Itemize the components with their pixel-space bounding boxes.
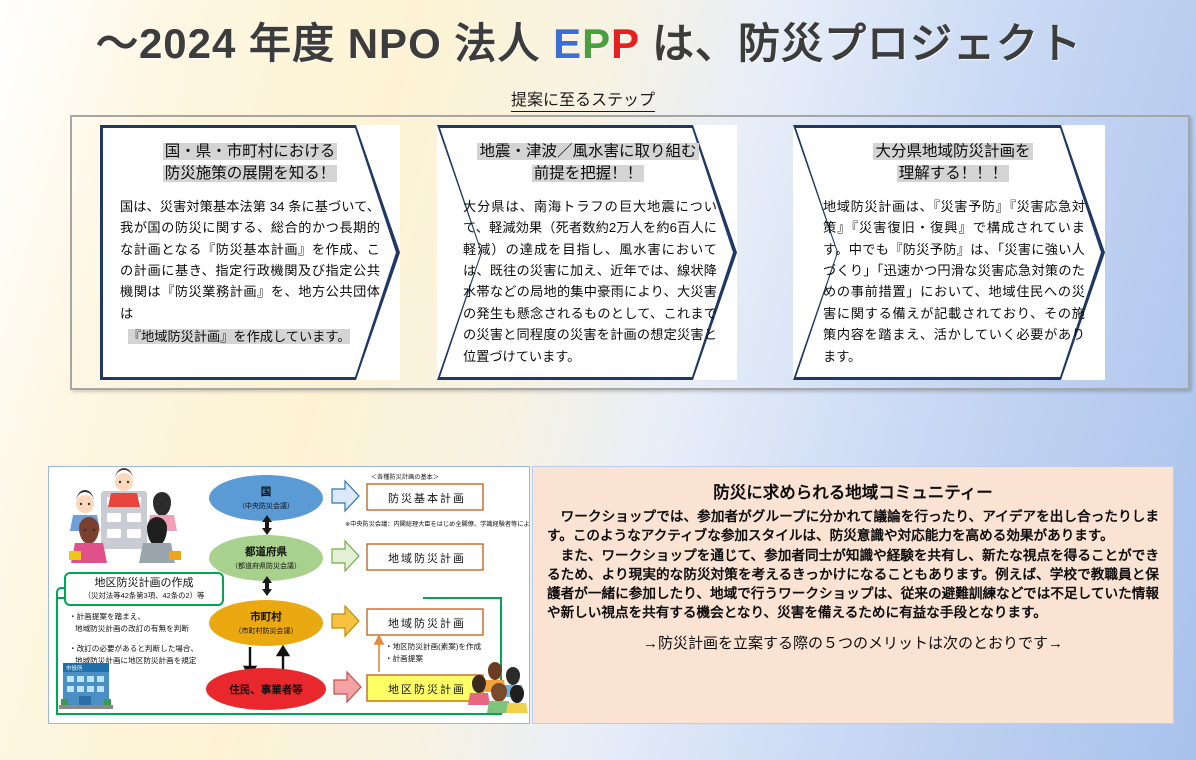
plan-label-3: 地域防災計画	[388, 616, 466, 630]
panel-heading: 防災に求められる地域コミュニティー	[547, 479, 1159, 503]
diagram-note-basic: ＜各種防災計画の基本＞	[371, 473, 439, 481]
crowd-illustration	[468, 662, 528, 713]
arrow-todofuken-to-plan	[332, 541, 359, 571]
title-letter-e: E	[553, 20, 582, 67]
step-2-heading-line1: 地震・津波／風水害に取り組む	[477, 143, 698, 160]
step-chevron-1: 国・県・市町村における 防災施策の展開を知る！ 国は、災害対策基本法第 34 条…	[100, 125, 400, 380]
bullet-right-2: ・計画提案	[385, 653, 423, 663]
diagram-node-jumin: 住民、事業者等	[206, 668, 326, 710]
title-letter-p2: P	[611, 20, 639, 67]
arrow-chiku-to-chiiki	[375, 636, 383, 672]
step-1-heading-line2: 防災施策の展開を知る！	[163, 165, 338, 182]
step-2-heading-line2: 前提を把握！！	[532, 165, 645, 182]
panel-paragraph-2: また、ワークショップを通じて、参加者同士が知識や経験を共有し、新たな視点を得るこ…	[547, 546, 1159, 623]
diagram-node-shichoson: 市町村 （市町村防災会議）	[209, 600, 323, 646]
arrow-kuni-to-plan	[332, 481, 359, 511]
page-title: ～2024 年度 NPO 法人 EPP は、防災プロジェクト	[96, 10, 1082, 71]
chiku-bousai-plan-diagram: .nl{font-family:"Liberation Sans","DejaV…	[48, 466, 530, 724]
step-1-body: 国は、災害対策基本法第 34 条に基づいて、我が国の防災に関する、総合的かつ長期…	[120, 196, 380, 324]
panel-closing-line: →防災計画を立案する際の５つのメリットは次のとおりです→	[547, 633, 1159, 654]
step-3-heading: 大分県地域防災計画を 理解する！！！	[821, 141, 1085, 186]
step-chevron-3: 大分県地域防災計画を 理解する！！！ 地域防災計画は、『災害予防』『災害応急対策…	[793, 125, 1105, 380]
node-sub-shichoson: （市町村防災会議）	[235, 626, 298, 635]
bullet-left-3: ・改訂の必要があると判断した場合、	[69, 643, 198, 653]
node-label-todofuken: 都道府県	[244, 545, 287, 558]
plan-label-4: 地区防災計画	[388, 682, 466, 696]
diagram-node-todofuken: 都道府県 （都道府県防災会議）	[209, 535, 323, 581]
step-1-body-tail: 『地域防災計画』を作成しています。	[120, 326, 380, 347]
panel-paragraph-1: ワークショップでは、参加者がグループに分かれて議論を行ったり、アイデアを出し合っ…	[547, 507, 1159, 546]
step-1-heading: 国・県・市町村における 防災施策の展開を知る！	[120, 141, 380, 186]
step-chevron-2: 地震・津波／風水害に取り組む 前提を把握！！ 大分県は、南海トラフの巨大地震につ…	[437, 125, 737, 380]
subcaption: 提案に至るステップ	[511, 86, 655, 112]
plan-box-chiku: 地区防災計画	[367, 675, 483, 701]
green-box-sub: （災対法等42条第3項、42条の2）等	[84, 591, 205, 600]
title-letter-p1: P	[582, 20, 611, 67]
plan-label-2: 地域防災計画	[388, 551, 466, 565]
bullet-left-2: 地域防災計画の改訂の有無を判断	[75, 623, 189, 633]
step-1-heading-line1: 国・県・市町村における	[163, 143, 338, 160]
green-title-box: 地区防災計画の作成 （災対法等42条第3項、42条の2）等	[65, 573, 223, 605]
bullet-right-1: ・地区防災計画(素案)を作成	[385, 641, 482, 651]
bullet-left-1: ・計画提案を踏まえ、	[69, 611, 145, 621]
title-suffix: は、防災プロジェクト	[639, 20, 1082, 67]
arrow-shichoson-to-plan	[332, 606, 359, 636]
node-label-shichoson: 市町村	[250, 610, 282, 623]
workshop-people-illustration	[69, 468, 181, 563]
step-3-heading-line2: 理解する！！！	[897, 165, 1010, 182]
node-sub-todofuken: （都道府県防災会議）	[231, 561, 301, 570]
title-prefix: ～2024 年度 NPO 法人	[96, 20, 553, 67]
step-2-heading: 地震・津波／風水害に取り組む 前提を把握！！	[459, 141, 717, 186]
title-bar: ～2024 年度 NPO 法人 EPP は、防災プロジェクト	[0, 10, 1196, 71]
diagram-node-kuni: 国 （中央防災会議）	[209, 475, 323, 521]
plan-box-chiiki-2: 地域防災計画	[367, 609, 483, 635]
plan-box-bousai-kihon: 防災基本計画	[367, 484, 483, 510]
node-label-jumin: 住民、事業者等	[229, 683, 303, 696]
step-3-heading-line1: 大分県地域防災計画を	[873, 143, 1032, 160]
arrow-jumin-to-plan	[334, 672, 361, 702]
city-hall-label: 市役所	[66, 664, 83, 672]
step-3-body: 地域防災計画は、『災害予防』『災害応急対策』『災害復旧・復興』で構成されています…	[823, 196, 1085, 367]
green-box-title: 地区防災計画の作成	[95, 575, 194, 589]
step-2-body: 大分県は、南海トラフの巨大地震について、軽減効果（死者数約2万人を約6百人に軽減…	[463, 196, 717, 367]
node-sub-kuni: （中央防災会議）	[238, 501, 294, 510]
node-label-kuni: 国	[261, 486, 272, 498]
city-hall-icon: 市役所	[59, 663, 113, 709]
community-text-panel: 防災に求められる地域コミュニティー ワークショップでは、参加者がグループに分かれ…	[532, 466, 1174, 724]
subcaption-row: 提案に至るステップ	[0, 86, 1196, 112]
plan-label-1: 防災基本計画	[388, 491, 466, 505]
plan-box-chiiki-1: 地域防災計画	[367, 544, 483, 570]
diagram-note-council: ※中央防災会議：内閣総理大臣をはじめ全閣僚、学識経験者等により構成	[345, 520, 529, 528]
